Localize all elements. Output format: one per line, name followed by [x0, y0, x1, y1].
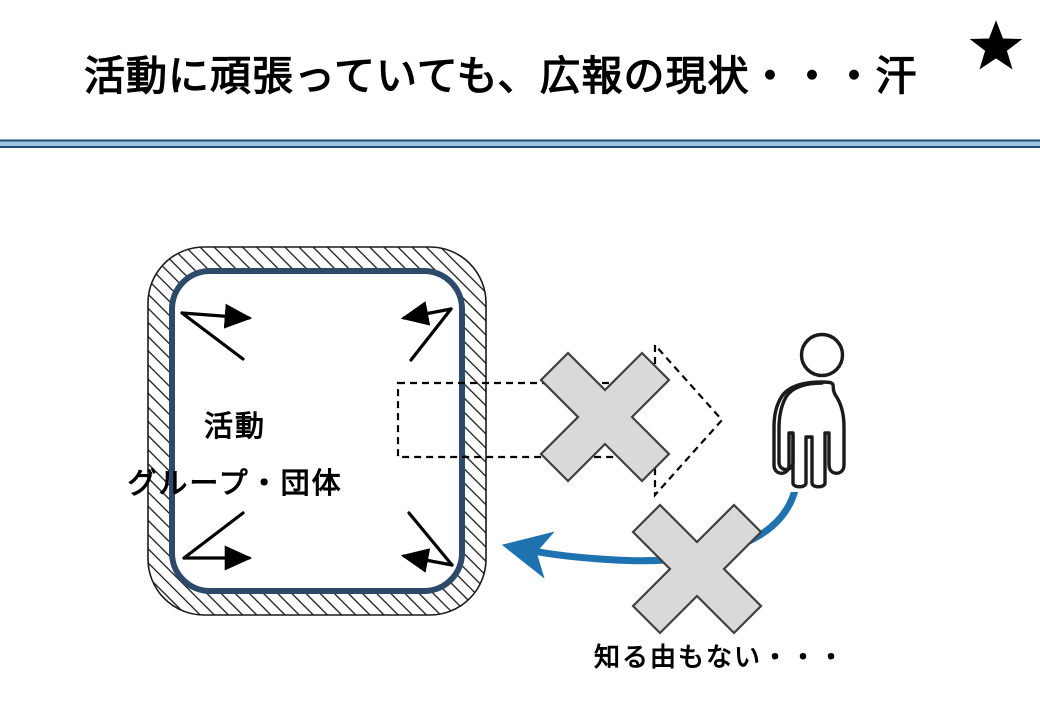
page-title: 活動に頑張っていても、広報の現状・・・汗: [84, 54, 917, 99]
star-icon: [968, 18, 1024, 74]
diagram-caption: 知る由もない・・・: [500, 637, 940, 674]
group-box-label-line1: 活動: [0, 403, 470, 445]
group-box-label-line2: グループ・団体: [0, 460, 470, 502]
person-figure: [770, 327, 880, 492]
cross-mark-icon-inbound: [633, 505, 761, 633]
cross-mark-icon-outward: [541, 353, 669, 481]
diagram-area: 活動 グループ・団体 知る由もない・・・: [0, 147, 1040, 720]
slide-canvas: 活動に頑張っていても、広報の現状・・・汗: [0, 0, 1040, 720]
title-divider-rule: [0, 136, 1040, 147]
